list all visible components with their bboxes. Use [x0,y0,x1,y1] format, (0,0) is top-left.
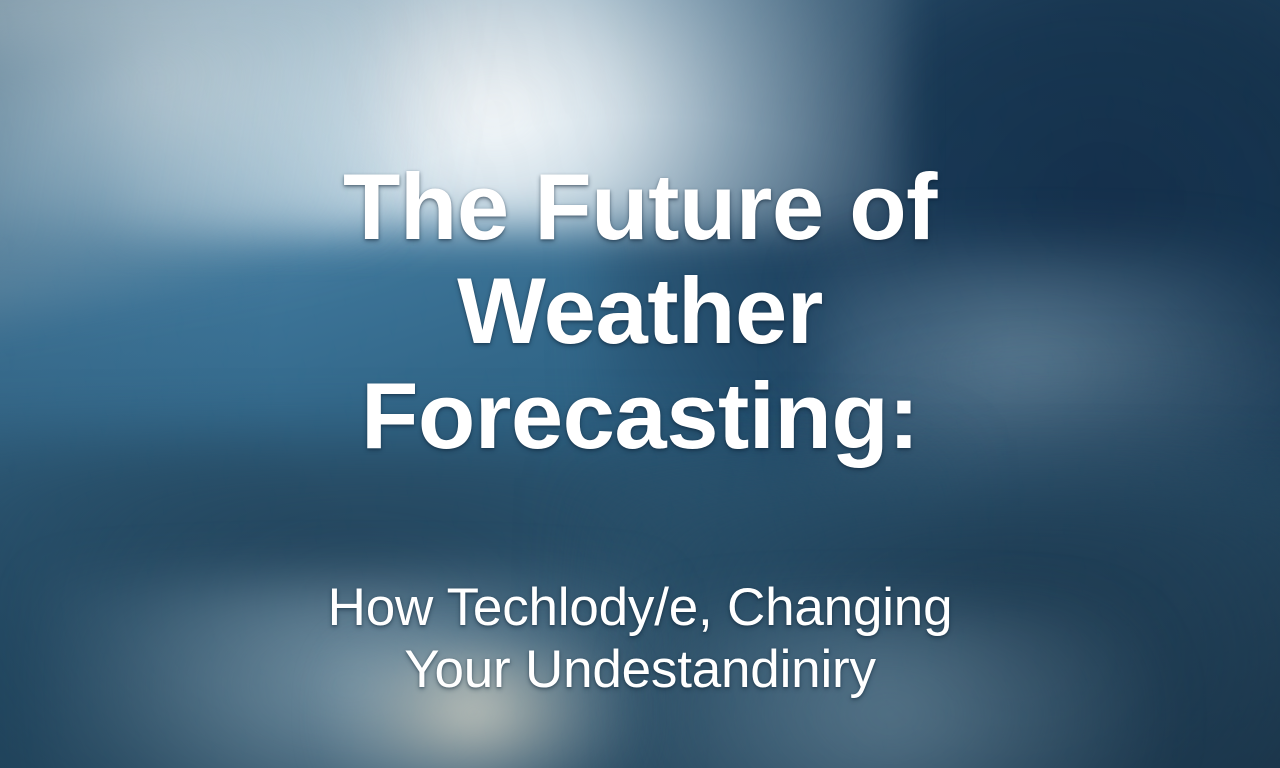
page-title-line-2: Weather [343,259,937,363]
page-subtitle-line-2: Your Undestandiniry [328,639,953,701]
page-subtitle-line-1: How Techlody/e, Changing [328,577,953,639]
title-card: The Future of Weather Forecasting: How T… [0,0,1280,768]
page-title-line-3: Forecasting: [343,364,937,468]
page-title-line-1: The Future of [343,155,937,259]
page-title: The Future of Weather Forecasting: [343,155,937,468]
page-subtitle: How Techlody/e, Changing Your Undestandi… [328,577,953,701]
text-content-block: The Future of Weather Forecasting: How T… [0,0,1280,768]
